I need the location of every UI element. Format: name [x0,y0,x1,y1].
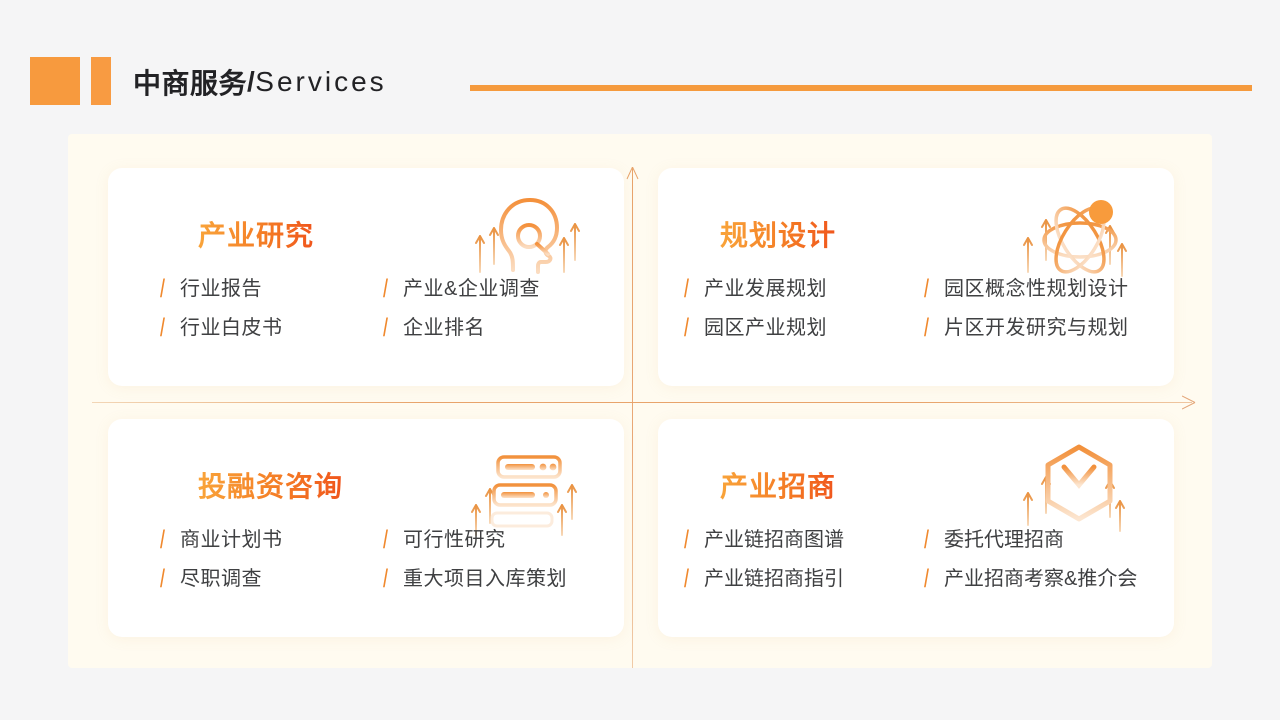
axis-vertical-arrow-icon [625,167,640,181]
axis-horizontal-arrow-icon [1182,395,1197,410]
bullet-icon: | [381,316,395,336]
header-accent-square-large [30,57,80,105]
service-card-investment-promotion[interactable]: 产业招商 |产业链招商图谱 |委托代理招商 [658,419,1174,637]
service-card-industry-research[interactable]: 产业研究 [108,168,624,386]
bullet-icon: | [682,277,696,297]
page-title-separator: / [247,66,255,98]
list-item-label: 可行性研究 [403,523,506,552]
list-item-label: 企业排名 [403,311,485,340]
card-item-list: |产业链招商图谱 |委托代理招商 |产业链招商指引 |产业招商考察&推介会 [684,523,1164,591]
bullet-icon: | [381,277,395,297]
list-item[interactable]: |企业排名 [383,311,606,340]
list-item[interactable]: |产业招商考察&推介会 [924,562,1164,591]
list-item-label: 商业计划书 [180,523,283,552]
atom-orbit-icon [1018,186,1138,282]
page-title: 中商服务/Services [133,58,387,106]
list-item-label: 产业发展规划 [704,272,827,301]
list-item-label: 重大项目入库策划 [403,562,567,591]
list-item[interactable]: |园区产业规划 [684,311,924,340]
list-item-label: 产业链招商图谱 [704,523,844,552]
bullet-icon: | [922,277,936,297]
axis-vertical-line [632,168,633,668]
bullet-icon: | [158,277,172,297]
service-card-investment-financing[interactable]: 投融资咨询 [108,419,624,637]
card-title: 产业研究 [198,214,314,254]
bullet-icon: | [922,567,936,587]
bullet-icon: | [381,567,395,587]
card-title: 规划设计 [720,214,836,254]
card-item-list: |产业发展规划 |园区概念性规划设计 |园区产业规划 |片区开发研究与规划 [684,272,1164,340]
card-item-list: |行业报告 |产业&企业调查 |行业白皮书 |企业排名 [160,272,606,340]
card-title: 投融资咨询 [198,465,343,505]
list-item-label: 园区概念性规划设计 [944,272,1129,301]
list-item-label: 尽职调查 [180,562,262,591]
list-item[interactable]: |商业计划书 [160,523,383,552]
page-title-en: Services [255,66,386,98]
bullet-icon: | [682,316,696,336]
list-item[interactable]: |重大项目入库策划 [383,562,606,591]
list-item-label: 行业报告 [180,272,262,301]
header-rule [470,85,1252,91]
list-item[interactable]: |产业发展规划 [684,272,924,301]
list-item[interactable]: |行业报告 [160,272,383,301]
head-magnifier-icon [468,186,588,282]
list-item[interactable]: |园区概念性规划设计 [924,272,1164,301]
list-item-label: 产业招商考察&推介会 [944,562,1137,591]
card-title: 产业招商 [720,465,836,505]
list-item[interactable]: |尽职调查 [160,562,383,591]
list-item-label: 行业白皮书 [180,311,283,340]
list-item-label: 片区开发研究与规划 [944,311,1129,340]
service-card-planning-design[interactable]: 规划设计 |产业发展规划 |园区概念性规划设计 |园 [658,168,1174,386]
list-item[interactable]: |可行性研究 [383,523,606,552]
page-title-cn: 中商服务 [133,62,247,102]
list-item[interactable]: |产业&企业调查 [383,272,606,301]
list-item[interactable]: |产业链招商图谱 [684,523,924,552]
bullet-icon: | [922,316,936,336]
list-item-label: 产业&企业调查 [403,272,540,301]
bullet-icon: | [158,567,172,587]
axis-horizontal-line [92,402,1192,403]
bullet-icon: | [682,567,696,587]
hexagon-yuan-icon [1018,437,1138,533]
card-item-list: |商业计划书 |可行性研究 |尽职调查 |重大项目入库策划 [160,523,606,591]
bullet-icon: | [158,316,172,336]
header-accent-square-small [91,57,111,105]
bullet-icon: | [381,528,395,548]
list-item[interactable]: |委托代理招商 [924,523,1164,552]
list-item[interactable]: |行业白皮书 [160,311,383,340]
bullet-icon: | [922,528,936,548]
slide-root: 中商服务/Services 产业研究 [0,0,1280,720]
bullet-icon: | [158,528,172,548]
list-item-label: 产业链招商指引 [704,562,844,591]
list-item-label: 园区产业规划 [704,311,827,340]
list-item-label: 委托代理招商 [944,523,1064,552]
list-item[interactable]: |片区开发研究与规划 [924,311,1164,340]
bullet-icon: | [682,528,696,548]
list-item[interactable]: |产业链招商指引 [684,562,924,591]
